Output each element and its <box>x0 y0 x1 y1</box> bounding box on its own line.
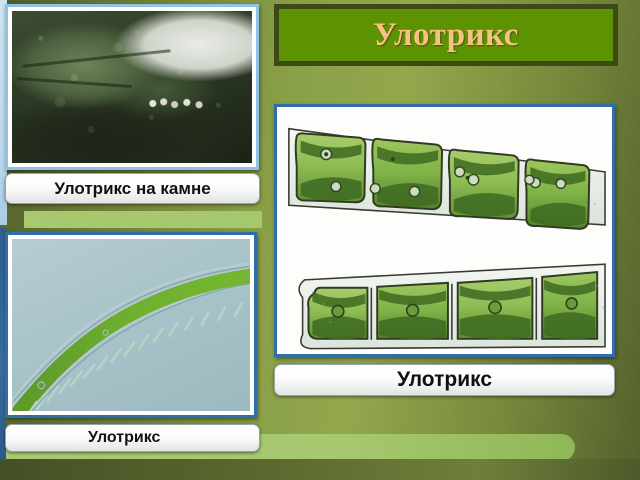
stone-pebbles <box>146 93 213 114</box>
caption-cell-illustration: Улотрикс <box>274 364 615 396</box>
figure-cell-illustration <box>274 104 615 357</box>
cells-drawing <box>281 111 608 350</box>
photo-filament-image <box>12 239 250 411</box>
illustration-cells-image <box>281 111 608 350</box>
figure-filament-microscope <box>5 232 257 418</box>
slide-canvas: Улотрикс Улотрикс на камне <box>0 0 640 480</box>
page-title: Улотрикс <box>373 17 519 54</box>
caption-filament-microscope: Улотрикс <box>5 424 260 452</box>
decorative-band-middle <box>0 211 262 228</box>
decorative-band-bottom-dark <box>0 459 640 480</box>
slide-title-bar: Улотрикс <box>274 4 618 66</box>
photo-algae-on-stone-image <box>12 11 252 163</box>
figure-algae-on-stone <box>5 4 259 170</box>
stone-texture-overlay <box>12 11 252 163</box>
filament-drawing <box>12 239 250 411</box>
caption-algae-on-stone: Улотрикс на камне <box>5 173 260 204</box>
